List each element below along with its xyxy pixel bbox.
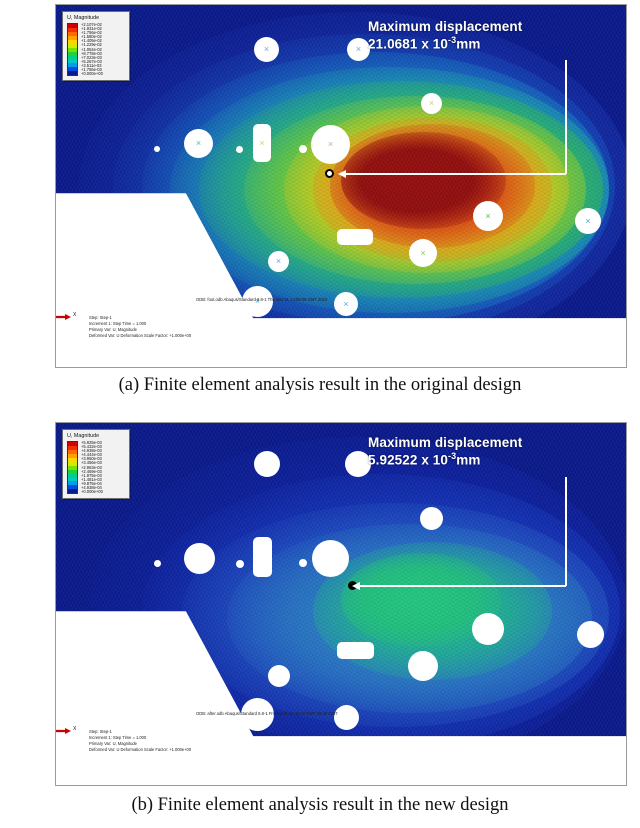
legend-value-labels: +5.925e-03 +5.432e-03 +4.938e-03 +4.444e…: [81, 441, 103, 494]
legend-color-bar: [67, 441, 78, 494]
caption-panel-a: (a) Finite element analysis result in th…: [0, 375, 640, 396]
hole: [420, 507, 443, 530]
step-info-block: Step: Step-1 Increment 1: Step Time = 1.…: [89, 315, 191, 340]
caption-panel-b: (b) Finite element analysis result in th…: [0, 795, 640, 816]
legend-label: +0.000e+00: [81, 490, 103, 494]
svg-text:X: X: [73, 726, 77, 732]
deformed-var-line: Deformed Var: U Deformation Scale Factor…: [89, 747, 191, 753]
slot-hole: [337, 229, 373, 245]
hole: ×: [268, 251, 289, 272]
axis-triad: X Z: [56, 305, 78, 345]
contour-plot-b: Maximum displacement 5.92522 x 10-3mm OD…: [56, 423, 626, 785]
fe-panel-new-design: Maximum displacement 5.92522 x 10-3mm OD…: [55, 422, 627, 786]
annotation-max-displacement-a: Maximum displacement 21.0681 x 10-3mm: [368, 19, 522, 53]
hole: [96, 209, 111, 224]
hole: [299, 559, 307, 567]
annotation-leader-line: [344, 173, 566, 175]
hole: ×: [409, 239, 437, 267]
hole: [154, 146, 160, 152]
annotation-value: 5.92522 x 10: [368, 453, 448, 468]
hole: [577, 621, 604, 648]
annotation-exponent: -3: [448, 35, 456, 45]
max-displacement-node-marker: [325, 169, 334, 178]
legend-value-labels: +2.107e-02 +1.931e-02 +1.756e-02 +1.580e…: [81, 23, 103, 76]
hole: [334, 705, 359, 730]
hole: ×: [421, 93, 442, 114]
hole: ×: [184, 129, 213, 158]
hole: [236, 560, 244, 568]
legend-color-bar: [67, 23, 78, 76]
annotation-arrow-head: [338, 170, 346, 178]
svg-text:X: X: [73, 312, 77, 318]
figure-container: × × × × × × × × × × × × Maximum displa: [0, 0, 640, 828]
annotation-arrow-head: [352, 582, 360, 590]
legend-title: U, Magnitude: [67, 433, 126, 439]
legend-label: +0.000e+00: [81, 72, 103, 76]
hole: [154, 560, 161, 567]
hole: ×: [473, 201, 503, 231]
annotation-line-2: 5.92522 x 10-3mm: [368, 451, 522, 469]
hole: [254, 451, 280, 477]
annotation-exponent: -3: [448, 451, 456, 461]
hole: ×: [311, 125, 350, 164]
annotation-leader-vertical: [565, 477, 567, 586]
annotation-unit: mm: [456, 37, 480, 52]
hole: [472, 613, 504, 645]
slot-hole: [253, 537, 272, 577]
annotation-unit: mm: [456, 453, 480, 468]
slot-hole: [337, 642, 374, 659]
annotation-max-displacement-b: Maximum displacement 5.92522 x 10-3mm: [368, 435, 522, 469]
hole: [236, 146, 243, 153]
slot-hole: ×: [253, 124, 271, 162]
annotation-line-1: Maximum displacement: [368, 435, 522, 451]
contour-plot-a: × × × × × × × × × × × × Maximum displa: [56, 5, 626, 367]
annotation-line-2: 21.0681 x 10-3mm: [368, 35, 522, 53]
fe-panel-original-design: × × × × × × × × × × × × Maximum displa: [55, 4, 627, 368]
annotation-leader-vertical: [565, 60, 567, 174]
hole: [96, 623, 111, 638]
hole: [408, 651, 438, 681]
deformed-var-line: Deformed Var: U Deformation Scale Factor…: [89, 333, 191, 339]
hole: [268, 665, 290, 687]
hole: [299, 145, 307, 153]
legend-title: U, Magnitude: [67, 15, 126, 21]
hole: [184, 543, 215, 574]
hole: ×: [254, 37, 279, 62]
hole: [312, 540, 349, 577]
hole: ×: [334, 292, 358, 316]
axis-triad: X Z: [56, 719, 78, 759]
annotation-leader-line: [356, 585, 566, 587]
hole: ×: [347, 38, 370, 61]
odb-info-line: ODB: after.odb Abaqus/Standard 6.8-1 Fri…: [196, 711, 338, 716]
contour-legend-b: U, Magnitude +5.925e-03 +5.432e-03 +4.93…: [62, 429, 130, 499]
hole: ×: [575, 208, 601, 234]
contour-legend-a: U, Magnitude +2.107e-02 +1.931e-02 +1.75…: [62, 11, 130, 81]
odb-info-line: ODB: foot.odb Abaqus/Standard 6.8-1 Thu …: [196, 297, 327, 302]
annotation-value: 21.0681 x 10: [368, 37, 448, 52]
annotation-line-1: Maximum displacement: [368, 19, 522, 35]
step-info-block: Step: Step-1 Increment 1: Step Time = 1.…: [89, 729, 191, 754]
